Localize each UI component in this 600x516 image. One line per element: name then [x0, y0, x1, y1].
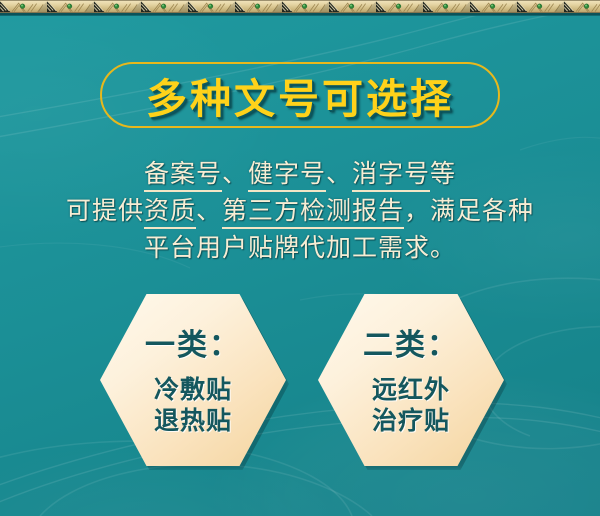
- description-text: 平台用户贴牌代加工需求。: [144, 235, 456, 262]
- highlighted-term: 健字号: [248, 161, 326, 192]
- description-paragraph: 备案号、健字号、消字号等可提供资质、第三方检测报告，满足各种平台用户贴牌代加工需…: [0, 156, 600, 267]
- ornamental-top-border: [0, 0, 600, 13]
- description-text: ，满足各种: [404, 198, 534, 225]
- description-line: 可提供资质、第三方检测报告，满足各种: [0, 193, 600, 230]
- description-text: 、: [222, 161, 248, 188]
- description-text: 可提供: [66, 198, 144, 225]
- description-text: 等: [430, 161, 456, 188]
- description-line: 备案号、健字号、消字号等: [0, 156, 600, 193]
- highlighted-term: 备案号: [144, 161, 222, 192]
- promo-poster: 多种文号可选择 备案号、健字号、消字号等可提供资质、第三方检测报告，满足各种平台…: [0, 0, 600, 516]
- top-border-underline: [0, 13, 600, 16]
- description-text: 、: [196, 198, 222, 225]
- highlighted-term: 第三方检测报告: [222, 198, 404, 229]
- page-title: 多种文号可选择: [100, 62, 500, 128]
- description-line: 平台用户贴牌代加工需求。: [0, 230, 600, 267]
- description-text: 、: [326, 161, 352, 188]
- highlighted-term: 消字号: [352, 161, 430, 192]
- highlighted-term: 资质: [144, 198, 196, 229]
